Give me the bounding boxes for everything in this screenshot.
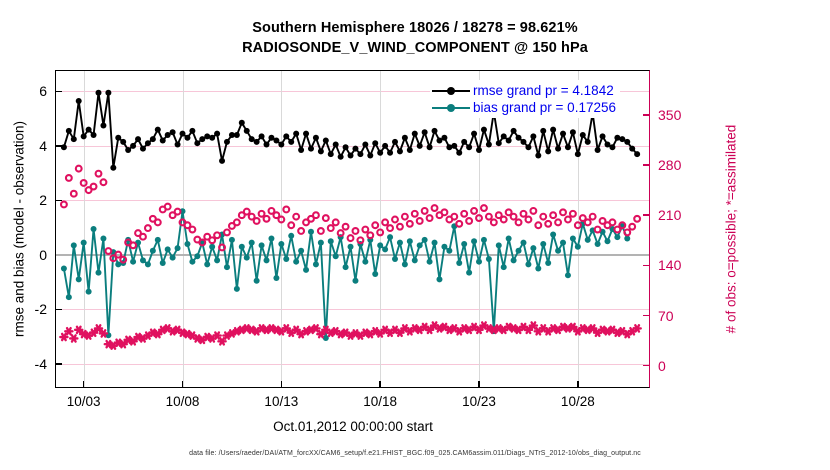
series-marker <box>120 139 126 145</box>
series-marker <box>323 137 329 143</box>
y-axis-left-tick-label: 0 <box>39 247 47 263</box>
series-marker <box>209 244 215 250</box>
y-axis-right-tick-label: 0 <box>658 358 666 374</box>
series-marker <box>417 143 423 149</box>
obs-possible-marker <box>629 224 635 230</box>
series-marker <box>249 240 255 246</box>
obs-possible-marker <box>71 191 77 197</box>
obs-possible-marker <box>521 211 527 217</box>
series-marker <box>234 286 240 292</box>
series-marker <box>81 240 87 246</box>
series-obs-assimilated <box>60 322 640 348</box>
series-marker <box>624 236 630 242</box>
series-marker <box>115 135 121 141</box>
x-axis-tick-label: 10/23 <box>462 394 496 409</box>
series-marker <box>407 147 413 153</box>
obs-possible-marker <box>254 218 260 224</box>
series-marker <box>372 140 378 146</box>
series-marker <box>105 90 111 96</box>
series-marker <box>328 238 334 244</box>
series-marker <box>328 151 334 157</box>
y-axis-left-label: rmse and bias (model - observation) <box>10 70 28 388</box>
series-marker <box>392 139 398 145</box>
obs-possible-marker <box>61 202 67 208</box>
obs-possible-marker <box>288 222 294 228</box>
y-axis-right-tick-label: 280 <box>658 157 681 173</box>
obs-possible-marker <box>298 228 304 234</box>
obs-possible-marker <box>461 211 467 217</box>
series-marker <box>298 147 304 153</box>
obs-possible-marker <box>530 208 536 214</box>
chart-title: Southern Hemisphere 18026 / 18278 = 98.6… <box>0 18 830 58</box>
series-marker <box>486 256 492 262</box>
series-marker <box>461 241 467 247</box>
series-marker <box>348 244 354 250</box>
series-marker <box>145 140 151 146</box>
series-marker <box>575 244 581 250</box>
obs-possible-marker <box>66 175 72 181</box>
obs-possible-marker <box>115 252 121 258</box>
y-axis-right-tick-label: 350 <box>658 107 681 123</box>
series-marker <box>254 139 260 145</box>
series-marker <box>140 257 146 263</box>
obs-possible-marker <box>234 219 240 225</box>
series-marker <box>387 150 393 156</box>
obs-possible-marker <box>367 232 373 238</box>
series-marker <box>412 131 418 137</box>
x-axis-tick-label: 10/13 <box>264 394 298 409</box>
obs-possible-marker <box>155 219 161 225</box>
obs-possible-marker <box>372 222 378 228</box>
obs-possible-marker <box>412 211 418 217</box>
obs-possible-marker <box>624 230 630 236</box>
x-axis-tick-label: 10/28 <box>561 394 595 409</box>
series-marker <box>362 142 368 148</box>
series-marker <box>634 151 640 157</box>
obs-possible-marker <box>427 215 433 221</box>
y-axis-left-tick-label: 4 <box>39 138 47 154</box>
obs-possible-marker <box>550 212 556 218</box>
obs-possible-marker <box>101 179 107 185</box>
y-axis-right-label-text: # of obs: o=possible; *=assimilated <box>724 125 739 334</box>
series-marker <box>570 236 576 242</box>
series-marker <box>239 120 245 126</box>
series-marker <box>333 253 339 259</box>
obs-possible-marker <box>516 219 522 225</box>
obs-possible-marker <box>224 230 230 236</box>
series-marker <box>91 132 97 138</box>
obs-possible-marker <box>313 212 319 218</box>
series-marker <box>184 241 190 247</box>
series-marker <box>367 152 373 158</box>
series-marker <box>595 147 601 153</box>
series-marker <box>501 133 507 139</box>
series-marker <box>506 236 512 242</box>
series-marker <box>560 240 566 246</box>
series-marker <box>219 158 225 164</box>
series-marker <box>214 131 220 137</box>
series-marker <box>76 98 82 104</box>
obs-possible-marker <box>451 214 457 220</box>
series-marker <box>432 240 438 246</box>
series-marker <box>427 144 433 150</box>
series-marker <box>66 294 72 300</box>
series-marker <box>540 128 546 134</box>
series-marker <box>308 146 314 152</box>
series-marker <box>471 238 477 244</box>
legend-item-bias[interactable]: bias grand pr = 0.17256 <box>432 99 616 116</box>
obs-possible-marker <box>595 227 601 233</box>
series-marker <box>466 270 472 276</box>
series-marker <box>407 238 413 244</box>
series-marker <box>357 151 363 157</box>
obs-possible-marker <box>491 219 497 225</box>
series-marker <box>145 261 151 267</box>
series-marker <box>278 241 284 247</box>
obs-possible-marker <box>244 209 250 215</box>
obs-possible-marker <box>278 217 284 223</box>
series-marker <box>318 240 324 246</box>
series-marker <box>525 144 531 150</box>
legend-item-label: rmse grand pr = 4.1842 <box>473 83 614 98</box>
obs-possible-marker <box>560 209 566 215</box>
chart-legend: rmse grand pr = 4.1842bias grand pr = 0.… <box>430 80 620 118</box>
series-marker <box>481 237 487 243</box>
series-marker <box>288 233 294 239</box>
series-marker <box>86 289 92 295</box>
series-marker <box>535 266 541 272</box>
obs-possible-marker <box>402 214 408 220</box>
series-marker <box>530 133 536 139</box>
series-marker <box>150 248 156 254</box>
series-marker <box>343 144 349 150</box>
y-axis-left-tick-label: -2 <box>35 301 47 317</box>
series-marker <box>283 256 289 262</box>
series-marker <box>441 244 447 250</box>
series-marker <box>422 129 428 135</box>
series-marker <box>170 255 176 261</box>
series-marker <box>194 253 200 259</box>
obs-possible-marker <box>358 237 364 243</box>
series-marker <box>545 260 551 266</box>
obs-possible-marker <box>219 245 225 251</box>
series-marker <box>456 260 462 266</box>
series-marker <box>259 242 265 248</box>
series-marker <box>555 146 561 152</box>
series-marker <box>224 264 230 270</box>
obs-possible-marker <box>476 215 482 221</box>
obs-possible-marker <box>189 227 195 233</box>
series-marker <box>520 240 526 246</box>
obs-possible-marker <box>456 221 462 227</box>
obs-possible-marker <box>511 214 517 220</box>
series-marker <box>130 143 136 149</box>
obs-possible-marker <box>328 225 334 231</box>
series-marker <box>214 257 220 263</box>
series-marker <box>313 261 319 267</box>
obs-possible-marker <box>486 214 492 220</box>
series-marker <box>264 257 270 263</box>
series-marker <box>402 261 408 267</box>
series-marker <box>575 151 581 157</box>
series-marker <box>180 131 186 137</box>
series-marker <box>545 148 551 154</box>
series-marker <box>333 142 339 148</box>
series-marker <box>417 242 423 248</box>
obs-possible-marker <box>81 180 87 186</box>
series-marker <box>303 131 309 137</box>
series-marker <box>209 135 215 141</box>
legend-item-rmse[interactable]: rmse grand pr = 4.1842 <box>432 82 616 99</box>
series-marker <box>609 144 615 150</box>
obs-possible-marker <box>392 217 398 223</box>
obs-possible-marker <box>165 204 171 210</box>
series-marker <box>234 132 240 138</box>
series-marker <box>71 242 77 248</box>
title-line-1: Southern Hemisphere 18026 / 18278 = 98.6… <box>0 18 830 38</box>
series-marker <box>397 240 403 246</box>
series-marker <box>432 128 438 134</box>
y-axis-right-label: # of obs: o=possible; *=assimilated <box>722 70 740 388</box>
series-marker <box>264 142 270 148</box>
series-marker <box>535 152 541 158</box>
obs-possible-marker <box>481 205 487 211</box>
series-marker <box>204 261 210 267</box>
series-marker <box>273 275 279 281</box>
series-marker <box>303 267 309 273</box>
obs-assimilated-marker <box>70 335 77 341</box>
series-marker <box>466 144 472 150</box>
obs-possible-marker <box>610 219 616 225</box>
footer-datafile: data file: /Users/raeder/DAI/ATM_forcXX/… <box>0 450 830 457</box>
series-marker <box>570 129 576 135</box>
obs-possible-marker <box>382 219 388 225</box>
series-marker <box>362 259 368 265</box>
obs-assimilated-marker <box>100 330 107 336</box>
obs-possible-marker <box>422 208 428 214</box>
y-axis-left-label-text: rmse and bias (model - observation) <box>12 121 27 337</box>
obs-possible-marker <box>442 209 448 215</box>
series-marker <box>91 226 97 232</box>
chart-page: Southern Hemisphere 18026 / 18278 = 98.6… <box>0 0 830 470</box>
series-marker <box>95 270 101 276</box>
series-marker <box>550 231 556 237</box>
series-marker <box>520 139 526 145</box>
series-marker <box>476 259 482 265</box>
obs-possible-marker <box>377 230 383 236</box>
series-marker <box>585 237 591 243</box>
series-canvas <box>56 71 649 387</box>
obs-assimilated-marker <box>634 325 641 331</box>
series-marker <box>155 237 161 243</box>
y-axis-right-tick-label: 140 <box>658 257 681 273</box>
series-marker <box>456 150 462 156</box>
series-marker <box>511 128 517 134</box>
series-marker <box>580 132 586 138</box>
series-marker <box>71 136 77 142</box>
series-marker <box>288 139 294 145</box>
series-marker <box>86 127 92 133</box>
y-axis-left-tick-label: 2 <box>39 192 47 208</box>
obs-possible-marker <box>140 234 146 240</box>
obs-possible-marker <box>432 205 438 211</box>
obs-possible-marker <box>105 248 111 254</box>
series-marker <box>595 241 601 247</box>
series-marker <box>352 146 358 152</box>
series-marker <box>135 136 141 142</box>
series-marker <box>175 142 181 148</box>
x-axis-tick-label: 10/18 <box>363 394 397 409</box>
series-marker <box>194 140 200 146</box>
obs-possible-marker <box>323 215 329 221</box>
series-marker <box>229 237 235 243</box>
series-marker <box>496 140 502 146</box>
series-marker <box>461 139 467 145</box>
obs-possible-marker <box>471 208 477 214</box>
series-marker <box>501 264 507 270</box>
series-marker <box>451 143 457 149</box>
obs-possible-marker <box>293 214 299 220</box>
series-marker <box>175 245 181 251</box>
series-marker <box>100 122 106 128</box>
series-marker <box>565 272 571 278</box>
obs-possible-marker <box>214 232 220 238</box>
series-marker <box>189 259 195 265</box>
series-marker <box>95 90 101 96</box>
series-marker <box>604 238 610 244</box>
series-marker <box>293 131 299 137</box>
series-marker <box>81 133 87 139</box>
obs-possible-marker <box>76 166 82 172</box>
series-marker <box>565 144 571 150</box>
series-marker <box>476 147 482 153</box>
series-marker <box>338 154 344 160</box>
series-marker <box>189 128 195 134</box>
series-marker <box>436 276 442 282</box>
legend-line-swatch <box>432 101 470 115</box>
series-marker <box>481 127 487 133</box>
obs-possible-marker <box>283 207 289 213</box>
obs-possible-marker <box>526 217 532 223</box>
series-marker <box>76 276 82 282</box>
obs-possible-marker <box>397 224 403 230</box>
obs-possible-marker <box>387 225 393 231</box>
obs-possible-marker <box>545 221 551 227</box>
obs-possible-marker <box>590 214 596 220</box>
obs-possible-marker <box>209 237 215 243</box>
obs-possible-marker <box>555 219 561 225</box>
series-marker <box>387 234 393 240</box>
series-marker <box>125 147 131 153</box>
series-marker <box>446 248 452 254</box>
series-marker <box>377 242 383 248</box>
obs-possible-marker <box>130 242 136 248</box>
obs-possible-marker <box>318 228 324 234</box>
x-axis-tick-label: 10/08 <box>166 394 200 409</box>
series-marker <box>298 248 304 254</box>
series-marker <box>140 146 146 152</box>
series-marker <box>268 236 274 242</box>
obs-possible-marker <box>501 217 507 223</box>
y-axis-right-tick-label: 210 <box>658 207 681 223</box>
series-marker <box>343 264 349 270</box>
series-marker <box>224 139 230 145</box>
obs-assimilated-marker <box>65 328 72 334</box>
series-marker <box>170 129 176 135</box>
series-marker <box>441 135 447 141</box>
x-axis-label: Oct.01,2012 00:00:00 start <box>0 419 706 434</box>
series-marker <box>244 128 250 134</box>
obs-possible-marker <box>407 221 413 227</box>
series-marker <box>313 135 319 141</box>
series-marker <box>585 139 591 145</box>
series-marker <box>318 148 324 154</box>
obs-possible-marker <box>535 222 541 228</box>
series-marker <box>382 143 388 149</box>
series-marker <box>550 127 556 133</box>
series-marker <box>308 229 314 235</box>
x-axis-tick-label: 10/03 <box>67 394 101 409</box>
obs-possible-marker <box>343 224 349 230</box>
series-marker <box>160 137 166 143</box>
obs-possible-marker <box>96 171 102 177</box>
series-marker <box>392 256 398 262</box>
series-marker <box>614 234 620 240</box>
series-marker <box>471 131 477 137</box>
series-marker <box>110 165 116 171</box>
obs-possible-marker <box>540 214 546 220</box>
series-marker <box>516 135 522 141</box>
series-marker <box>160 260 166 266</box>
series-marker <box>427 259 433 265</box>
series-marker <box>372 271 378 277</box>
obs-possible-marker <box>570 211 576 217</box>
obs-possible-marker <box>338 230 344 236</box>
obs-possible-marker <box>175 209 181 215</box>
series-marker <box>184 135 190 141</box>
series-marker <box>352 278 358 284</box>
series-marker <box>629 146 635 152</box>
obs-possible-marker <box>466 218 472 224</box>
obs-possible-marker <box>348 235 354 241</box>
series-bias <box>61 208 630 341</box>
series-marker <box>506 137 512 143</box>
series-marker <box>412 257 418 263</box>
series-marker <box>422 237 428 243</box>
series-marker <box>100 236 106 242</box>
series-marker <box>150 136 156 142</box>
series-marker <box>283 133 289 139</box>
obs-possible-marker <box>259 211 265 217</box>
series-marker <box>273 137 279 143</box>
y-axis-left-tick-label: -4 <box>35 356 47 372</box>
obs-possible-marker <box>353 228 359 234</box>
series-marker <box>165 246 171 252</box>
series-marker <box>624 139 630 145</box>
series-marker <box>254 278 260 284</box>
series-marker <box>560 131 566 137</box>
obs-possible-marker <box>91 184 97 190</box>
obs-possible-marker <box>264 216 270 222</box>
series-marker <box>61 266 67 272</box>
obs-possible-marker <box>145 225 151 231</box>
series-marker <box>397 148 403 154</box>
series-marker <box>486 142 492 148</box>
series-marker <box>244 255 250 261</box>
obs-possible-marker <box>565 217 571 223</box>
series-marker <box>511 257 517 263</box>
series-marker <box>402 135 408 141</box>
